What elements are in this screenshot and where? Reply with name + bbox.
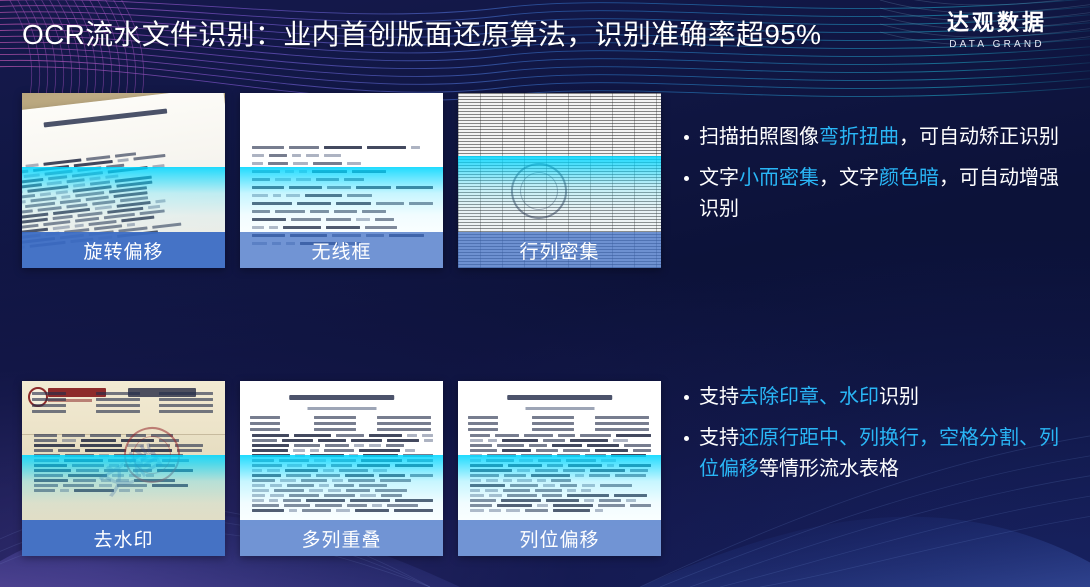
doc-text-cell [309,489,323,492]
doc-text-cell [339,469,368,472]
doc-text-cell [543,484,555,487]
doc-text-cell [624,444,651,447]
doc-text-cell [375,489,407,492]
doc-text-cell [508,464,542,467]
doc-text-row [252,494,433,498]
doc-text-cell [310,210,329,213]
doc-text-row [470,439,651,443]
form-field-grid [468,416,651,431]
doc-text-cell [584,499,594,502]
doc-text-cell [405,449,415,452]
doc-text-cell [519,459,533,462]
doc-text-cell [547,464,563,467]
doc-text-cell [489,494,502,497]
doc-text-cell [34,469,71,472]
doc-text-cell [613,439,628,442]
doc-text-row [470,459,651,463]
doc-text-cell [328,489,341,492]
doc-text-cell [525,509,548,512]
doc-text-cell [355,509,389,512]
document-card[interactable]: 无线框 [240,93,443,268]
doc-text-cell [582,484,595,487]
seal-stamp-icon [505,157,573,225]
document-card[interactable]: 多列重叠 [240,381,443,556]
doc-text-cell [407,434,416,437]
doc-text-cell [524,434,554,437]
document-card[interactable]: 列位偏移 [458,381,661,556]
plain-text: 识别 [879,386,919,408]
doc-text-cell [595,509,603,512]
document-card[interactable]: 旋转偏移 [22,93,225,268]
bank-field [32,398,66,401]
doc-text-row [470,479,651,483]
doc-text-cell [369,434,403,437]
doc-text-cell [497,444,525,447]
bank-field [159,392,213,395]
doc-text-cell [252,439,277,442]
doc-text-cell [62,434,85,437]
plain-text: 扫描拍照图像 [699,126,819,148]
doc-text-row [252,146,433,150]
doc-text-row [470,454,651,458]
form-field [250,422,280,425]
doc-text-cell [275,178,291,181]
card-caption: 行列密集 [458,232,661,268]
doc-text-cell [566,459,596,462]
form-field [377,416,431,419]
doc-text-cell [611,454,646,457]
doc-text-cell [360,494,376,497]
doc-text-row [470,489,651,493]
doc-text-cell [273,194,281,197]
doc-text-cell [310,449,319,452]
doc-text-cell [155,199,165,203]
doc-text-cell [284,504,310,507]
plain-text: 文字 [699,167,739,189]
bank-field [96,404,140,407]
form-field [595,428,649,431]
bank-field [32,392,66,395]
doc-text-cell [323,469,334,472]
card-caption: 多列重叠 [240,520,443,556]
doc-text-cell [537,504,549,507]
doc-text-cell [551,479,571,482]
form-field-grid [250,416,433,431]
doc-text-cell [361,459,402,462]
doc-text-cell [517,469,530,472]
doc-text-cell [614,494,647,497]
doc-text-cell [507,494,537,497]
doc-text-cell [319,484,329,487]
doc-text-cell [504,474,526,477]
form-field [468,422,498,425]
doc-text-cell [34,464,67,467]
doc-text-cell [316,178,339,181]
doc-text-row [252,509,433,513]
plain-text: 支持 [699,386,739,408]
doc-text-cell [285,469,318,472]
bullet-text: 文字小而密集，文字颜色暗，可自动增强识别 [699,163,1074,225]
doc-text-cell [63,484,94,487]
doc-text-cell [72,464,104,467]
highlight-text: 小而密集 [739,167,819,189]
doc-text-cell [538,459,561,462]
form-field [595,416,649,419]
doc-text-cell [324,449,354,452]
card-caption: 旋转偏移 [22,232,225,268]
doc-text-cell [306,499,345,502]
doc-text-cell [325,444,349,447]
doc-text-row [252,444,433,448]
doc-text-cell [394,509,433,512]
doc-text-cell [488,439,497,442]
doc-text-cell [152,484,188,487]
doc-text-cell [607,464,614,467]
doc-text-cell [252,489,269,492]
doc-text-cell [580,434,612,437]
doc-text-cell [589,474,610,477]
doc-text-cell [336,509,349,512]
form-field [377,428,431,431]
doc-text-cell [590,469,625,472]
document-card[interactable]: 行列密集 [458,93,661,268]
doc-text-cell [34,474,63,477]
doc-text-cell [293,162,308,165]
doc-text-cell [302,509,331,512]
form-field [250,428,280,431]
doc-text-row [252,469,433,473]
doc-text-cell [314,459,326,462]
doc-text-cell [375,218,394,221]
doc-text-row [470,484,651,488]
doc-text-cell [470,449,497,452]
doc-text-cell [285,170,294,173]
bullet-dot-icon [684,395,689,400]
doc-text-cell [283,226,321,229]
doc-text-row [252,439,433,443]
doc-text-cell [65,454,94,457]
doc-text-cell [283,499,301,502]
bank-field-grid [32,392,215,413]
doc-text-cell [336,434,364,437]
doc-text-cell [117,158,128,162]
bullet-item: 支持去除印章、水印识别 [684,382,1074,413]
doc-text-cell [177,449,202,452]
doc-text-cell [470,504,491,507]
doc-text-cell [299,170,307,173]
doc-text-cell [407,459,433,462]
doc-text-row [252,479,433,483]
doc-text-cell [396,186,433,189]
doc-text-cell [379,474,405,477]
doc-text-cell [286,194,300,197]
doc-text-cell [345,474,374,477]
doc-text-cell [324,146,362,149]
doc-text-cell [252,194,268,197]
doc-text-cell [252,434,288,437]
doc-text-cell [424,439,433,442]
doc-text-cell [470,434,490,437]
doc-text-cell [331,459,356,462]
doc-text-cell [269,499,278,502]
doc-text-cell [252,449,288,452]
form-field [377,422,431,425]
doc-text-cell [252,494,265,497]
doc-text-cell [351,439,382,442]
bullet-item: 文字小而密集，文字颜色暗，可自动增强识别 [684,163,1074,225]
doc-text-cell [313,162,342,165]
doc-text-row [252,464,433,468]
doc-text-cell [352,170,386,173]
form-field [532,416,574,419]
highlight-text: 去除印章、水印 [739,386,879,408]
doc-text-cell [587,444,619,447]
doc-text-cell [34,434,57,437]
doc-text-cell [403,454,433,457]
doc-text-cell [630,504,650,507]
doc-text-cell [252,459,274,462]
doc-text-cell [307,464,325,467]
form-field [468,428,498,431]
doc-text-cell [34,484,58,487]
doc-text-cell [252,509,283,512]
doc-text-cell [558,434,575,437]
doc-text-cell [268,162,288,165]
card-row-bottom: 文档去水印多列重叠列位偏移 [22,381,661,556]
doc-text-cell [252,474,281,477]
doc-heading [507,395,613,400]
doc-text-cell [386,444,404,447]
doc-text-cell [359,449,400,452]
doc-text-cell [279,459,309,462]
form-field [468,416,498,419]
doc-text-cell [503,479,512,482]
doc-text-cell [64,459,103,462]
doc-text-cell [470,509,484,512]
doc-text-cell [275,210,305,213]
form-field [595,422,649,425]
doc-text-cell [316,474,340,477]
doc-text-row [252,226,433,230]
doc-text-cell [289,146,319,149]
doc-text-cell [536,449,558,452]
doc-text-cell [422,434,433,437]
doc-text-cell [305,194,342,197]
doc-text-cell [359,484,387,487]
highlight-text: 颜色暗 [879,167,939,189]
plain-text: 等情形流水表格 [759,458,899,480]
doc-text-row [470,499,651,503]
bullet-text: 支持还原行距中、列换行，空格分割、列位偏移等情形流水表格 [699,423,1074,485]
doc-text-cell [252,454,290,457]
highlight-text: 弯折扭曲 [819,126,899,148]
doc-text-cell [531,474,570,477]
bank-field [96,410,140,413]
doc-text-cell [267,469,280,472]
doc-text-cell [34,489,55,492]
doc-text-cell [289,509,298,512]
bank-field [32,410,66,413]
doc-text-row [470,469,651,473]
doc-text-cell [373,469,387,472]
doc-subheading [525,407,594,410]
doc-text-cell [310,454,344,457]
doc-text-cell [350,499,390,502]
doc-text-row [252,210,433,214]
doc-text-cell [252,218,286,221]
doc-text-row [252,194,433,198]
doc-text-cell [626,499,636,502]
doc-text-row [252,484,433,488]
doc-text-cell [347,162,361,165]
doc-text-cell [356,218,370,221]
doc-text-cell [347,504,367,507]
doc-text-row [252,178,433,182]
bank-field [96,392,140,395]
doc-heading [43,108,167,127]
doc-text-row [252,154,433,158]
doc-text-row [252,504,433,508]
doc-text-row [470,464,651,468]
doc-text-cell [90,434,121,437]
doc-text-cell [334,210,357,213]
doc-text-cell [503,489,530,492]
doc-text-cell [529,444,547,447]
doc-text-cell [346,489,370,492]
doc-text-cell [252,146,284,149]
doc-text-cell [367,146,406,149]
doc-text-cell [362,210,386,213]
doc-text-row [470,434,651,438]
doc-text-cell [568,464,602,467]
doc-text-row [252,186,433,190]
doc-text-cell [356,186,391,189]
doc-text-row [252,489,433,493]
bullet-dot-icon [684,436,689,441]
doc-text-cell [292,154,301,157]
doc-text-cell [289,494,319,497]
doc-text-cell [506,509,520,512]
doc-text-cell [535,469,558,472]
doc-heading [289,395,395,400]
doc-text-cell [502,449,531,452]
doc-text-cell [294,444,320,447]
doc-text-cell [630,469,648,472]
doc-text-cell [502,439,538,442]
doc-text-cell [295,454,305,457]
doc-text-cell [324,494,355,497]
card-caption: 列位偏移 [458,520,661,556]
doc-text-cell [517,479,532,482]
doc-subheading [307,407,376,410]
doc-text-cell [286,474,311,477]
doc-text-cell [270,484,282,487]
doc-text-cell [470,454,482,457]
bullet-item: 支持还原行距中、列换行，空格分割、列位偏移等情形流水表格 [684,423,1074,485]
doc-text-cell [546,499,579,502]
bank-field [159,410,213,413]
doc-text-cell [269,154,287,157]
doc-text-cell [486,459,514,462]
bank-statement-header [22,381,225,435]
brand-name-cn: 达观数据 [922,10,1072,36]
doc-text-cell [252,186,283,189]
doc-text-cell [563,469,585,472]
card-caption: 无线框 [240,232,443,268]
doc-text-cell [336,202,371,205]
doc-text-cell [252,504,279,507]
doc-text-cell [315,504,342,507]
doc-text-cell [633,449,651,452]
bullet-dot-icon [684,176,689,181]
doc-text-cell [34,454,60,457]
doc-text-cell [269,226,278,229]
doc-text-cell [293,449,305,452]
doc-text-cell [567,489,576,492]
doc-text-cell [543,439,565,442]
brand-logo: 达观数据 DATA GRAND [922,10,1072,51]
doc-text-cell [287,464,302,467]
doc-text-cell [553,504,593,507]
doc-text-row [252,459,433,463]
doc-text-cell [497,504,532,507]
doc-text-cell [297,202,332,205]
slide-root: OCR流水文件识别：业内首创版面还原算法，识别准确率超95% 达观数据 DATA… [0,0,1090,587]
doc-text-row [470,449,651,453]
doc-text-cell [470,469,512,472]
doc-text-cell [599,499,621,502]
doc-text-cell [280,479,296,482]
doc-text-cell [487,454,516,457]
doc-text-row [252,449,433,453]
doc-text-cell [363,454,398,457]
doc-text-cell [76,469,99,472]
doc-text-cell [127,223,135,227]
doc-text-row [252,202,433,206]
doc-text-cell [80,444,122,447]
bullet-text: 支持去除印章、水印识别 [699,382,919,413]
doc-text-cell [387,504,418,507]
doc-text-cell [357,464,391,467]
plain-text: 支持 [699,427,739,449]
doc-text-cell [348,479,375,482]
doc-text-cell [470,479,481,482]
doc-text-cell [282,439,313,442]
document-card[interactable]: 文档去水印 [22,381,225,556]
doc-text-cell [291,218,321,221]
doc-text-cell [324,154,341,157]
bullet-item: 扫描拍照图像弯折扭曲，可自动矫正识别 [684,122,1074,153]
doc-text-cell [615,474,646,477]
doc-text-cell [294,434,331,437]
bullet-list-top: 扫描拍照图像弯折扭曲，可自动矫正识别文字小而密集，文字颜色暗，可自动增强识别 [684,122,1074,225]
doc-text-row [470,509,651,513]
doc-text-cell [575,474,584,477]
doc-text-cell [349,454,358,457]
doc-text-cell [570,439,608,442]
doc-text-row [470,494,651,498]
doc-text-cell [318,439,346,442]
doc-text-cell [312,170,347,173]
doc-text-cell [595,449,628,452]
doc-text-cell [470,444,491,447]
bank-field [159,404,213,407]
doc-text-row [252,474,433,478]
doc-text-cell [581,489,591,492]
doc-text-cell [470,489,480,492]
doc-text-cell [34,439,57,442]
doc-text-cell [542,494,562,497]
